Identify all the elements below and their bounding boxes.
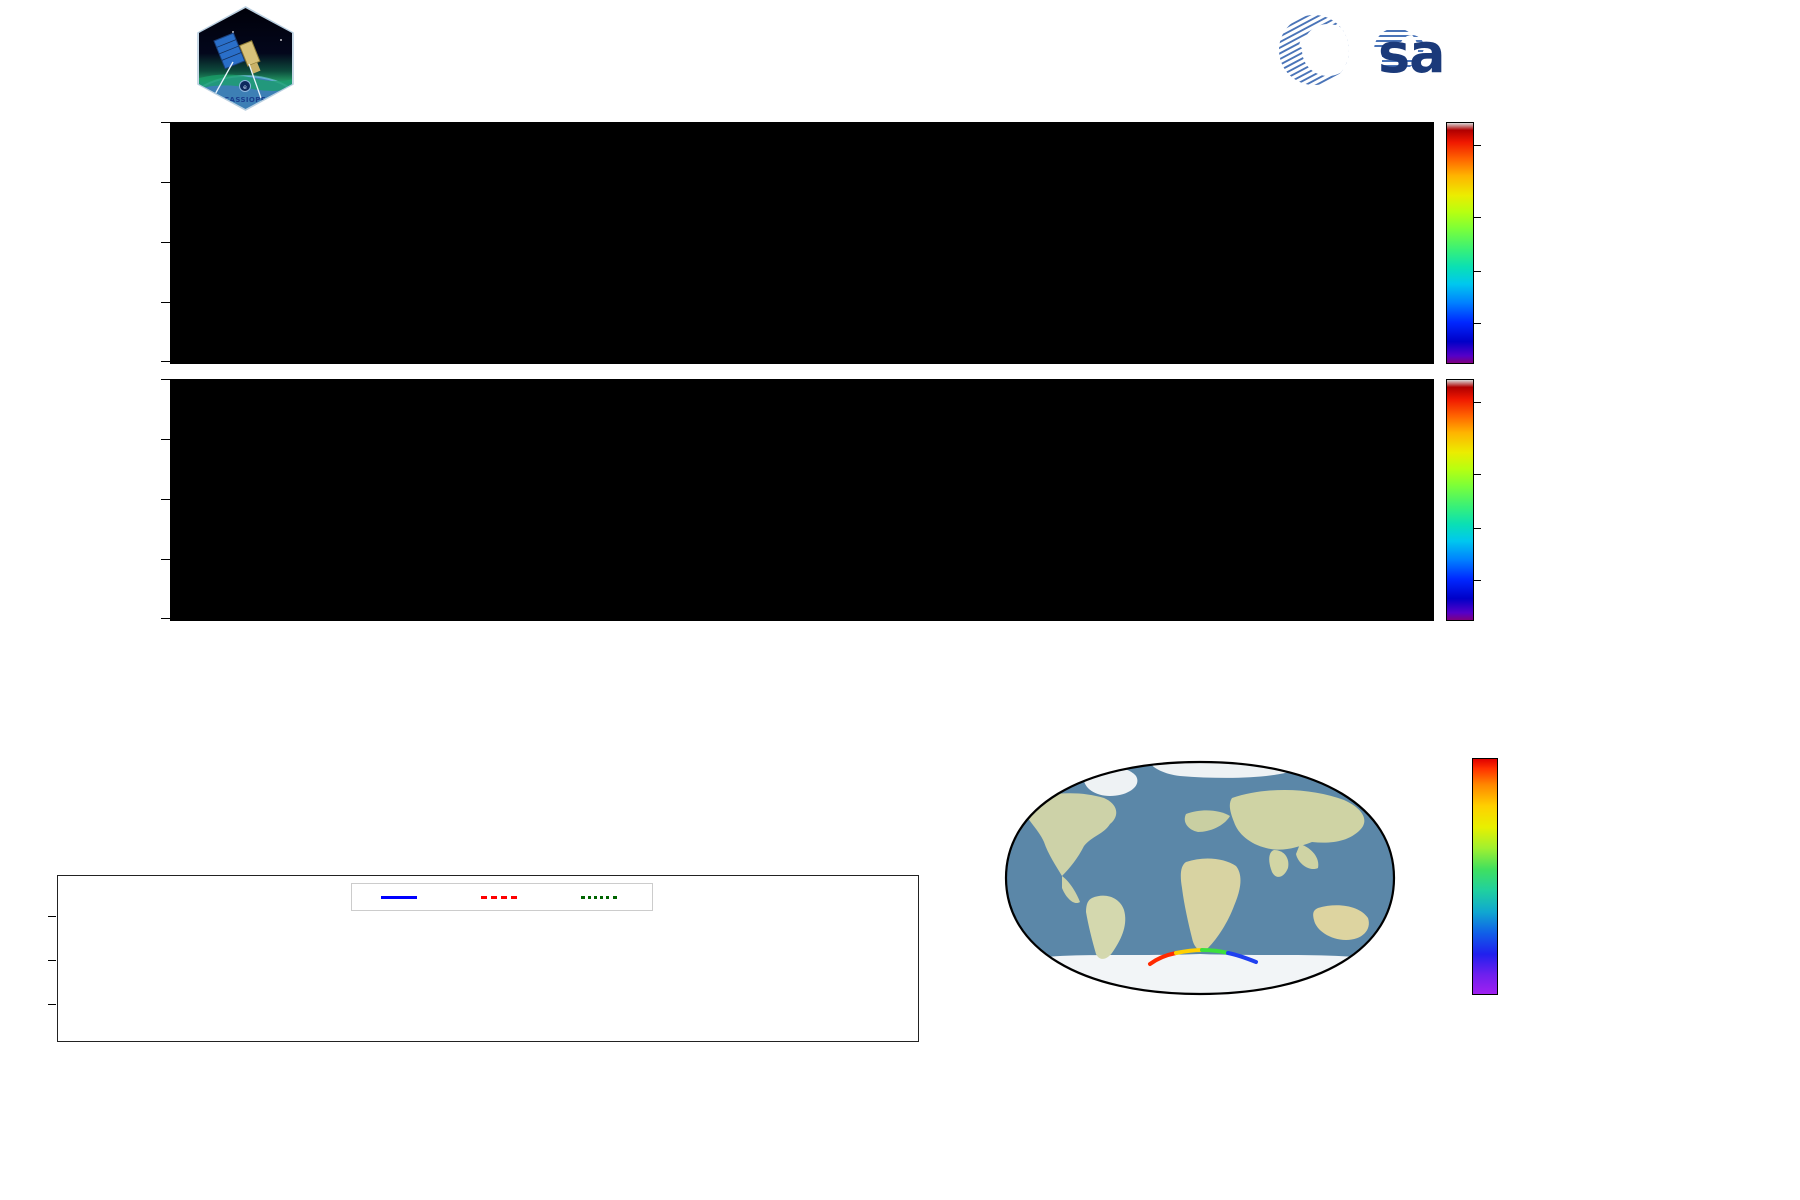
svg-text:sa: sa [1378,22,1445,85]
attitude-legend [351,883,653,911]
pitch-line-swatch [481,896,517,899]
dipole-voltage-colorbar-b [1446,379,1474,621]
cassiope-mission-logo: e CASSIOPE [193,6,298,111]
esa-agency-logo: sa [1278,10,1488,90]
legend-item-roll [581,896,624,899]
yaw-line-swatch [381,896,417,899]
spectrogram-panel-input-b [170,379,1434,621]
dipole-voltage-colorbar-a [1446,122,1474,364]
legend-item-yaw [381,896,424,899]
svg-text:e: e [243,84,247,91]
ground-track-map [1000,758,1400,998]
altitude-colorbar [1472,758,1498,995]
roll-line-swatch [581,896,617,899]
legend-item-pitch [481,896,524,899]
spectrogram-panel-input-a [170,122,1434,364]
